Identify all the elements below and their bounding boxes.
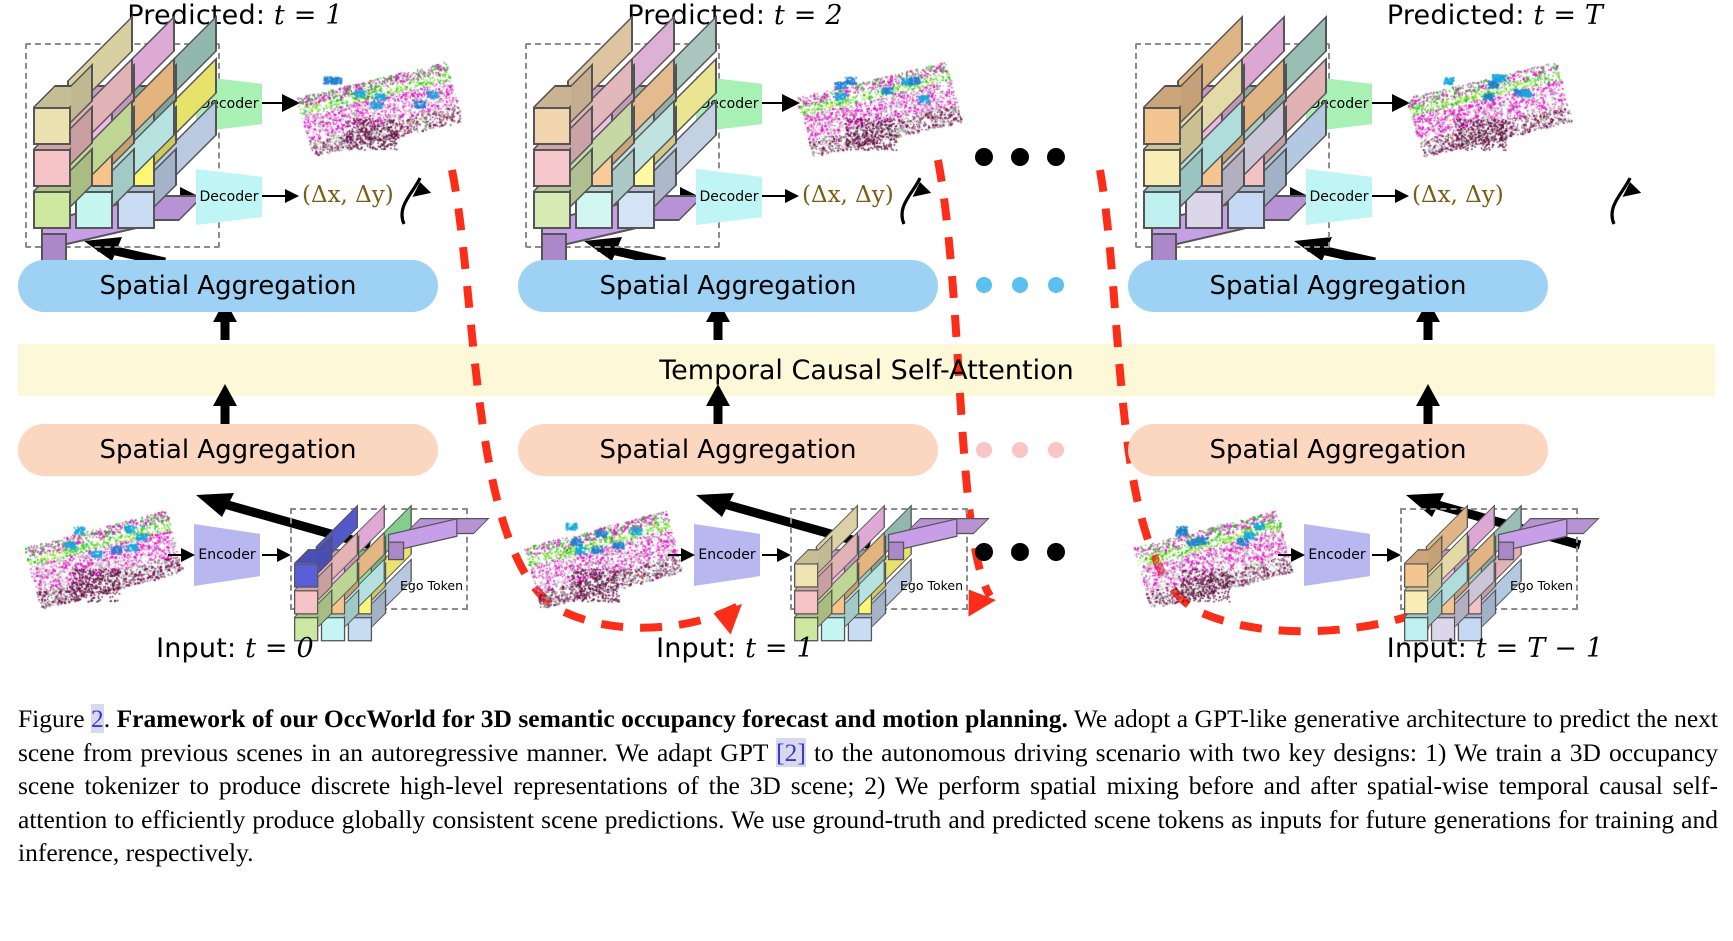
ellipsis-dot [976, 277, 992, 293]
temporal-causal-self-attention-label: Temporal Causal Self-Attention [18, 344, 1715, 396]
ellipsis-dot [1048, 442, 1064, 458]
occupancy-point-cloud [294, 52, 464, 158]
spatial-aggregation-lower-label-t2: Spatial Aggregation [518, 424, 938, 476]
scene-token-cube [1404, 549, 1430, 575]
scene-token-grid-tT [1143, 55, 1313, 190]
predicted-token-box-t2 [525, 43, 720, 248]
ego-token-label-tT: Ego Token [1510, 578, 1573, 593]
scene-token-grid-input-t2 [794, 530, 871, 580]
spatial-aggregation-lower-label-t1: Spatial Aggregation [18, 424, 438, 476]
caption-figure-number[interactable]: 2 [91, 704, 104, 733]
scene-token-grid-t1 [33, 55, 203, 190]
ellipsis-dot [975, 543, 993, 561]
scene-token-cube [33, 85, 73, 125]
predicted-token-box-t1 [25, 43, 220, 248]
caption-figure-word: Figure [18, 704, 85, 733]
caption-bold-title: Framework of our OccWorld for 3D semanti… [117, 704, 1068, 733]
caption-after-number: . [104, 704, 117, 733]
ellipsis-dot [976, 442, 992, 458]
occupancy-point-cloud [794, 52, 964, 158]
predicted-title-t2: Predicted: t = 2 [500, 0, 970, 31]
occupancy-scene-input-t2 [522, 500, 684, 610]
caption-citation-link[interactable]: [2] [776, 738, 806, 767]
occupancy-point-cloud [1404, 52, 1574, 158]
predicted-title-math: t = T [1533, 0, 1603, 31]
scene-token-cube [794, 549, 820, 575]
spatial-aggregation-upper-label-tT: Spatial Aggregation [1128, 260, 1548, 312]
ego-token-prism-input-t2 [888, 518, 974, 553]
ego-token-end-face [1498, 542, 1514, 561]
decoder-label: Decoder [700, 189, 759, 205]
ego-token-prism-input-t1 [388, 518, 474, 553]
ego-token-end-face [888, 542, 904, 561]
spatial-aggregation-upper-label-t1: Spatial Aggregation [18, 260, 438, 312]
ellipsis-dot [1011, 543, 1029, 561]
ego-token-label-t2: Ego Token [900, 578, 963, 593]
encoder-tT[interactable]: Encoder [1304, 524, 1370, 586]
decoder-label: Decoder [200, 189, 259, 205]
occupancy-scene-predicted-t1 [294, 52, 464, 158]
input-title-t1: Input: t = 0 [0, 633, 470, 664]
ellipsis-dot [1047, 148, 1065, 166]
decoder-label: Decoder [1310, 189, 1369, 205]
encoder-label: Encoder [198, 547, 255, 563]
predicted-title-math: t = 2 [774, 0, 843, 31]
ego-token-label-t1: Ego Token [400, 578, 463, 593]
scene-token-grid-input-tT [1404, 530, 1481, 580]
decoder-pose-t1[interactable]: Decoder [196, 169, 262, 225]
input-title-prefix: Input: [156, 633, 236, 664]
occupancy-point-cloud [1132, 500, 1294, 610]
ego-token-prism-input-tT [1498, 518, 1584, 553]
ellipsis-dot [1012, 442, 1028, 458]
pose-output-t2: (Δx, Δy) [802, 182, 894, 208]
scene-token-grid-input-t1 [294, 530, 371, 580]
encoder-label: Encoder [698, 547, 755, 563]
spatial-aggregation-lower-label-tT: Spatial Aggregation [1128, 424, 1548, 476]
input-title-tT: Input: t = T − 1 [1260, 633, 1730, 664]
input-title-t2: Input: t = 1 [500, 633, 970, 664]
scene-token-cube [294, 549, 320, 575]
predicted-title-prefix: Predicted: [127, 0, 265, 31]
predicted-title-math: t = 1 [274, 0, 343, 31]
predicted-token-box-tT [1135, 43, 1330, 248]
input-title-math: t = 0 [245, 633, 314, 664]
scene-token-cube [533, 85, 573, 125]
ellipsis-dot [1048, 277, 1064, 293]
encoder-label: Encoder [1308, 547, 1365, 563]
ellipsis-dot [1011, 148, 1029, 166]
predicted-title-prefix: Predicted: [627, 0, 765, 31]
ellipsis-dot [1047, 543, 1065, 561]
occupancy-point-cloud [22, 500, 184, 610]
ego-token-end-face [41, 233, 67, 263]
occupancy-scene-predicted-t2 [794, 52, 964, 158]
ego-token-end-face [388, 542, 404, 561]
predicted-title-prefix: Predicted: [1387, 0, 1525, 31]
pose-output-t1: (Δx, Δy) [302, 182, 394, 208]
predicted-title-tT: Predicted: t = T [1260, 0, 1730, 31]
input-title-prefix: Input: [656, 633, 736, 664]
pose-output-tT: (Δx, Δy) [1412, 182, 1504, 208]
occupancy-scene-predicted-tT [1404, 52, 1574, 158]
occupancy-scene-input-tT [1132, 500, 1294, 610]
predicted-title-t1: Predicted: t = 1 [0, 0, 470, 31]
occupancy-scene-input-t1 [22, 500, 184, 610]
decoder-pose-t2[interactable]: Decoder [696, 169, 762, 225]
input-title-math: t = T − 1 [1476, 633, 1603, 664]
occupancy-point-cloud [522, 500, 684, 610]
scene-token-cube [1143, 85, 1183, 125]
encoder-t2[interactable]: Encoder [694, 524, 760, 586]
spatial-aggregation-upper-label-t2: Spatial Aggregation [518, 260, 938, 312]
scene-token-grid-t2 [533, 55, 703, 190]
ellipsis-dot [1012, 277, 1028, 293]
figure-framework-diagram: Predicted: t = 1 Decoder Decoder (Δx, Δy… [0, 0, 1733, 700]
ego-token-end-face [541, 233, 567, 263]
decoder-pose-tT[interactable]: Decoder [1306, 169, 1372, 225]
figure-caption: Figure 2. Framework of our OccWorld for … [18, 702, 1718, 870]
encoder-t1[interactable]: Encoder [194, 524, 260, 586]
ellipsis-dot [975, 148, 993, 166]
ego-token-end-face [1151, 233, 1177, 263]
input-title-math: t = 1 [745, 633, 814, 664]
input-title-prefix: Input: [1387, 633, 1467, 664]
